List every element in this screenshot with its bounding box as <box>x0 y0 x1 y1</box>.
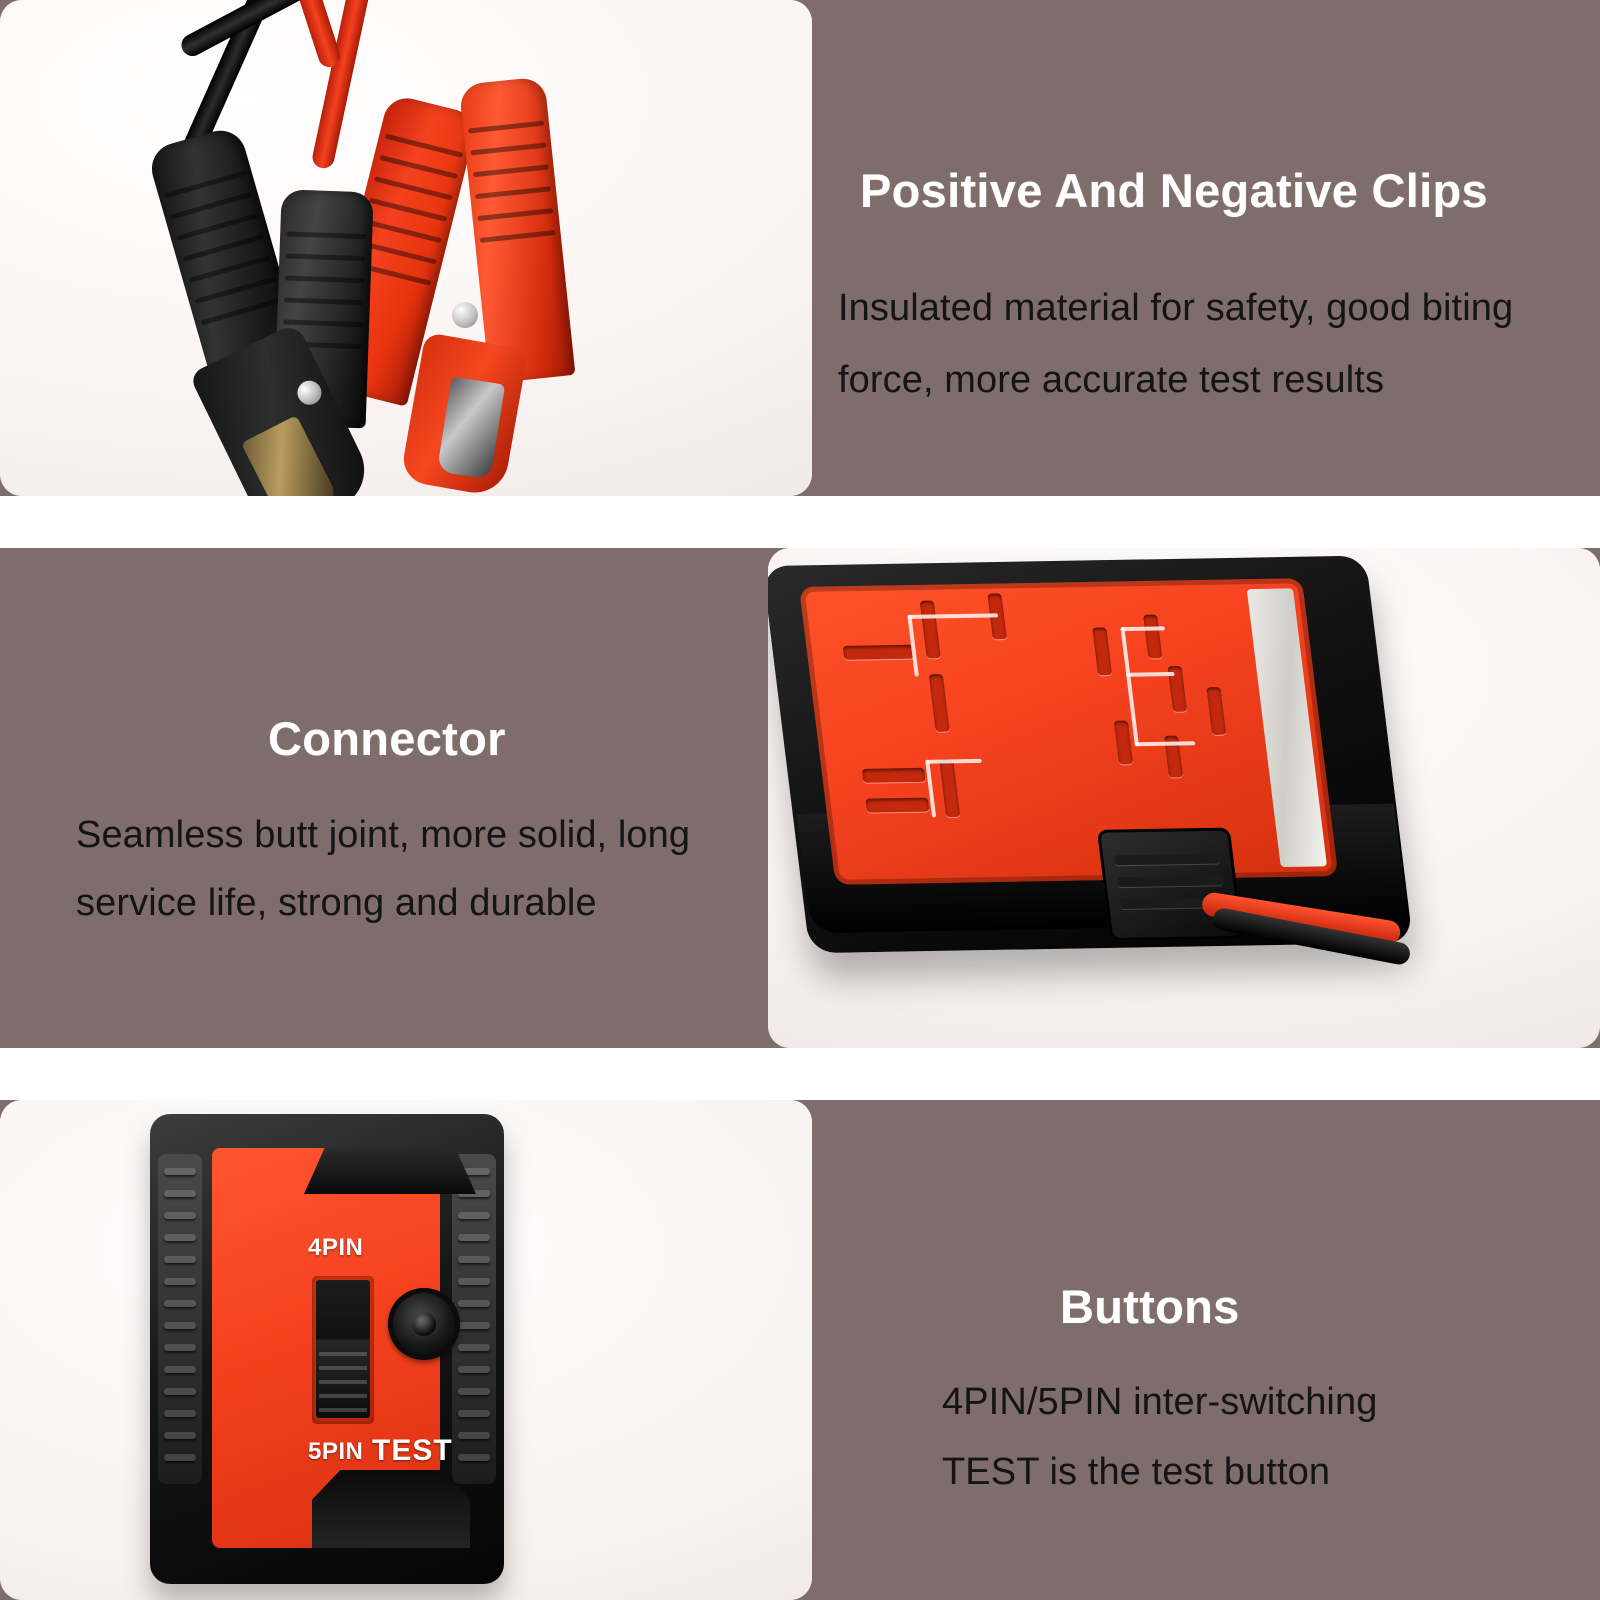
feature-panel-positive-negative-clips: Positive And Negative Clips Insulated ma… <box>0 0 1600 496</box>
relay-socket-line <box>1120 626 1165 631</box>
test-button-label: TEST <box>372 1434 453 1468</box>
tester-relay-socket-face <box>799 578 1338 885</box>
pin-mode-switch[interactable] <box>312 1276 374 1424</box>
panel-body-buttons-line-2: TEST is the test button <box>942 1451 1330 1494</box>
relay-socket-line <box>925 759 982 764</box>
relay-tester-front: 4PIN 5PIN TEST <box>150 1114 504 1584</box>
relay-slot <box>1206 687 1226 735</box>
clips-scene <box>0 0 812 496</box>
buttons-copy-block: Buttons 4PIN/5PIN inter-switching TEST i… <box>812 1100 1600 1600</box>
red-clip-lower-handle <box>459 76 576 383</box>
relay-slot <box>1114 721 1133 765</box>
panel-body-clips-line-1: Insulated material for safety, good biti… <box>838 287 1513 330</box>
relay-slot <box>1143 615 1162 659</box>
buttons-photo: 4PIN 5PIN TEST <box>0 1100 812 1600</box>
relay-socket-line <box>907 613 998 619</box>
relay-socket-line <box>1126 672 1175 677</box>
relay-slot <box>843 645 915 660</box>
panel-title-connector: Connector <box>268 711 506 766</box>
switch-label-5pin: 5PIN <box>308 1438 363 1466</box>
red-clip-rivet <box>452 302 478 328</box>
red-clip-lower-ridges <box>459 76 576 383</box>
panel-body-clips-line-2: force, more accurate test results <box>838 359 1384 402</box>
tester-scene <box>768 548 1600 1048</box>
device-top-notch <box>304 1148 476 1194</box>
panel-body-buttons-line-1: 4PIN/5PIN inter-switching <box>942 1381 1377 1424</box>
connector-copy-block: Connector Seamless butt joint, more soli… <box>0 548 768 1048</box>
switch-label-4pin: 4PIN <box>308 1234 363 1262</box>
device-grip-left <box>158 1154 202 1484</box>
relay-slot <box>862 768 926 783</box>
relay-slot <box>929 674 950 732</box>
relay-socket-line <box>1135 741 1196 746</box>
feature-panel-buttons: 4PIN 5PIN TEST Buttons <box>0 1100 1600 1600</box>
feature-panel-connector: Connector Seamless butt joint, more soli… <box>0 548 1600 1048</box>
device-bottom-socket <box>312 1470 470 1548</box>
relay-slot <box>865 798 929 813</box>
product-feature-board: Positive And Negative Clips Insulated ma… <box>0 0 1600 1600</box>
red-wire-bend <box>279 0 343 70</box>
test-button[interactable] <box>388 1288 460 1360</box>
panel-title-clips: Positive And Negative Clips <box>860 163 1488 218</box>
device-scene: 4PIN 5PIN TEST <box>0 1100 812 1600</box>
panel-body-connector-line-1: Seamless butt joint, more solid, long <box>76 814 690 857</box>
relay-slot <box>939 759 960 817</box>
panel-title-buttons: Buttons <box>1060 1279 1240 1334</box>
connector-photo <box>768 548 1600 1048</box>
pin-mode-switch-knob[interactable] <box>316 1280 370 1418</box>
relay-tester-body <box>768 548 1434 1024</box>
clips-photo <box>0 0 812 496</box>
relay-slot <box>1092 627 1112 675</box>
device-red-faceplate: 4PIN 5PIN TEST <box>212 1148 440 1548</box>
panel-body-connector-line-2: service life, strong and durable <box>76 882 597 925</box>
clips-copy-block: Positive And Negative Clips Insulated ma… <box>812 0 1600 496</box>
relay-slot <box>920 601 941 659</box>
